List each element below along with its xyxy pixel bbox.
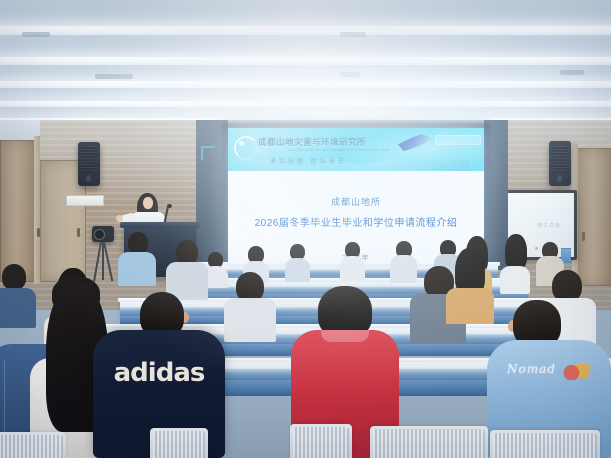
institute-emblem-icon bbox=[234, 136, 258, 160]
chair-back bbox=[370, 426, 488, 458]
door-handle-left[interactable] bbox=[37, 228, 40, 237]
banner-institute-name: 成都山地灾害与环境研究所 bbox=[258, 136, 366, 148]
ceiling-vent bbox=[22, 32, 50, 37]
presenter-hand bbox=[116, 215, 123, 222]
door-left[interactable] bbox=[0, 140, 36, 282]
slide-title-line1: 成都山地所 bbox=[228, 195, 484, 208]
attendee-head bbox=[176, 240, 198, 264]
door-handle-right[interactable] bbox=[582, 232, 585, 241]
attendee-torso bbox=[118, 252, 156, 286]
wall-speaker-right bbox=[549, 141, 571, 186]
tripod-leg bbox=[102, 242, 104, 280]
screen-corner-accent bbox=[201, 146, 215, 160]
attendee-head bbox=[2, 264, 26, 290]
slide-title-line2: 2026届冬季毕业生毕业和学位申请流程介绍 bbox=[228, 214, 484, 229]
attendee-torso bbox=[224, 298, 276, 342]
attendee-head bbox=[128, 232, 148, 254]
presenter-face bbox=[143, 197, 153, 209]
attendee-torso bbox=[0, 288, 36, 328]
camera-lens-icon bbox=[94, 229, 105, 240]
attendee-torso bbox=[390, 255, 417, 283]
chair-back bbox=[490, 430, 600, 458]
adidas-logo-text: adidas bbox=[93, 358, 225, 388]
institute-emblem-dot-icon bbox=[239, 141, 244, 146]
polo-collar bbox=[321, 330, 369, 342]
chair-back bbox=[150, 428, 208, 458]
wall-plaque-left bbox=[66, 195, 104, 206]
banner-institute-subtitle: Institute of Mountain Hazards and Enviro… bbox=[288, 148, 390, 152]
slide-banner: 成都山地灾害与环境研究所 Institute of Mountain Hazar… bbox=[228, 128, 484, 171]
whiteboard-mark bbox=[535, 247, 538, 250]
shirt-script-text: Nomad bbox=[507, 362, 556, 376]
attendee-torso bbox=[340, 256, 365, 282]
door-handle-left2[interactable] bbox=[77, 228, 80, 237]
ceiling bbox=[0, 0, 611, 132]
lecture-hall-photo: 电子白板 成都山地灾害与环境研究所 Institute of Mountain … bbox=[0, 0, 611, 458]
wall-speaker-left bbox=[78, 142, 100, 186]
banner-slogan: 求实创新 团结奋进 bbox=[270, 156, 347, 165]
attendee-long-hair bbox=[505, 234, 527, 270]
ceiling-vent bbox=[340, 72, 360, 77]
chair-back bbox=[0, 432, 66, 458]
banner-tag bbox=[435, 135, 481, 145]
door-right[interactable] bbox=[577, 148, 611, 286]
ceiling-vent bbox=[340, 32, 366, 37]
attendee-torso bbox=[285, 258, 310, 282]
attendee-torso bbox=[500, 266, 530, 294]
ceiling-vent bbox=[560, 70, 584, 75]
chair-back bbox=[290, 424, 352, 458]
attendee-torso bbox=[446, 288, 494, 324]
ceiling-vent bbox=[95, 74, 133, 79]
microphone-icon bbox=[167, 204, 172, 208]
whiteboard-label: 电子白板 bbox=[537, 222, 561, 229]
